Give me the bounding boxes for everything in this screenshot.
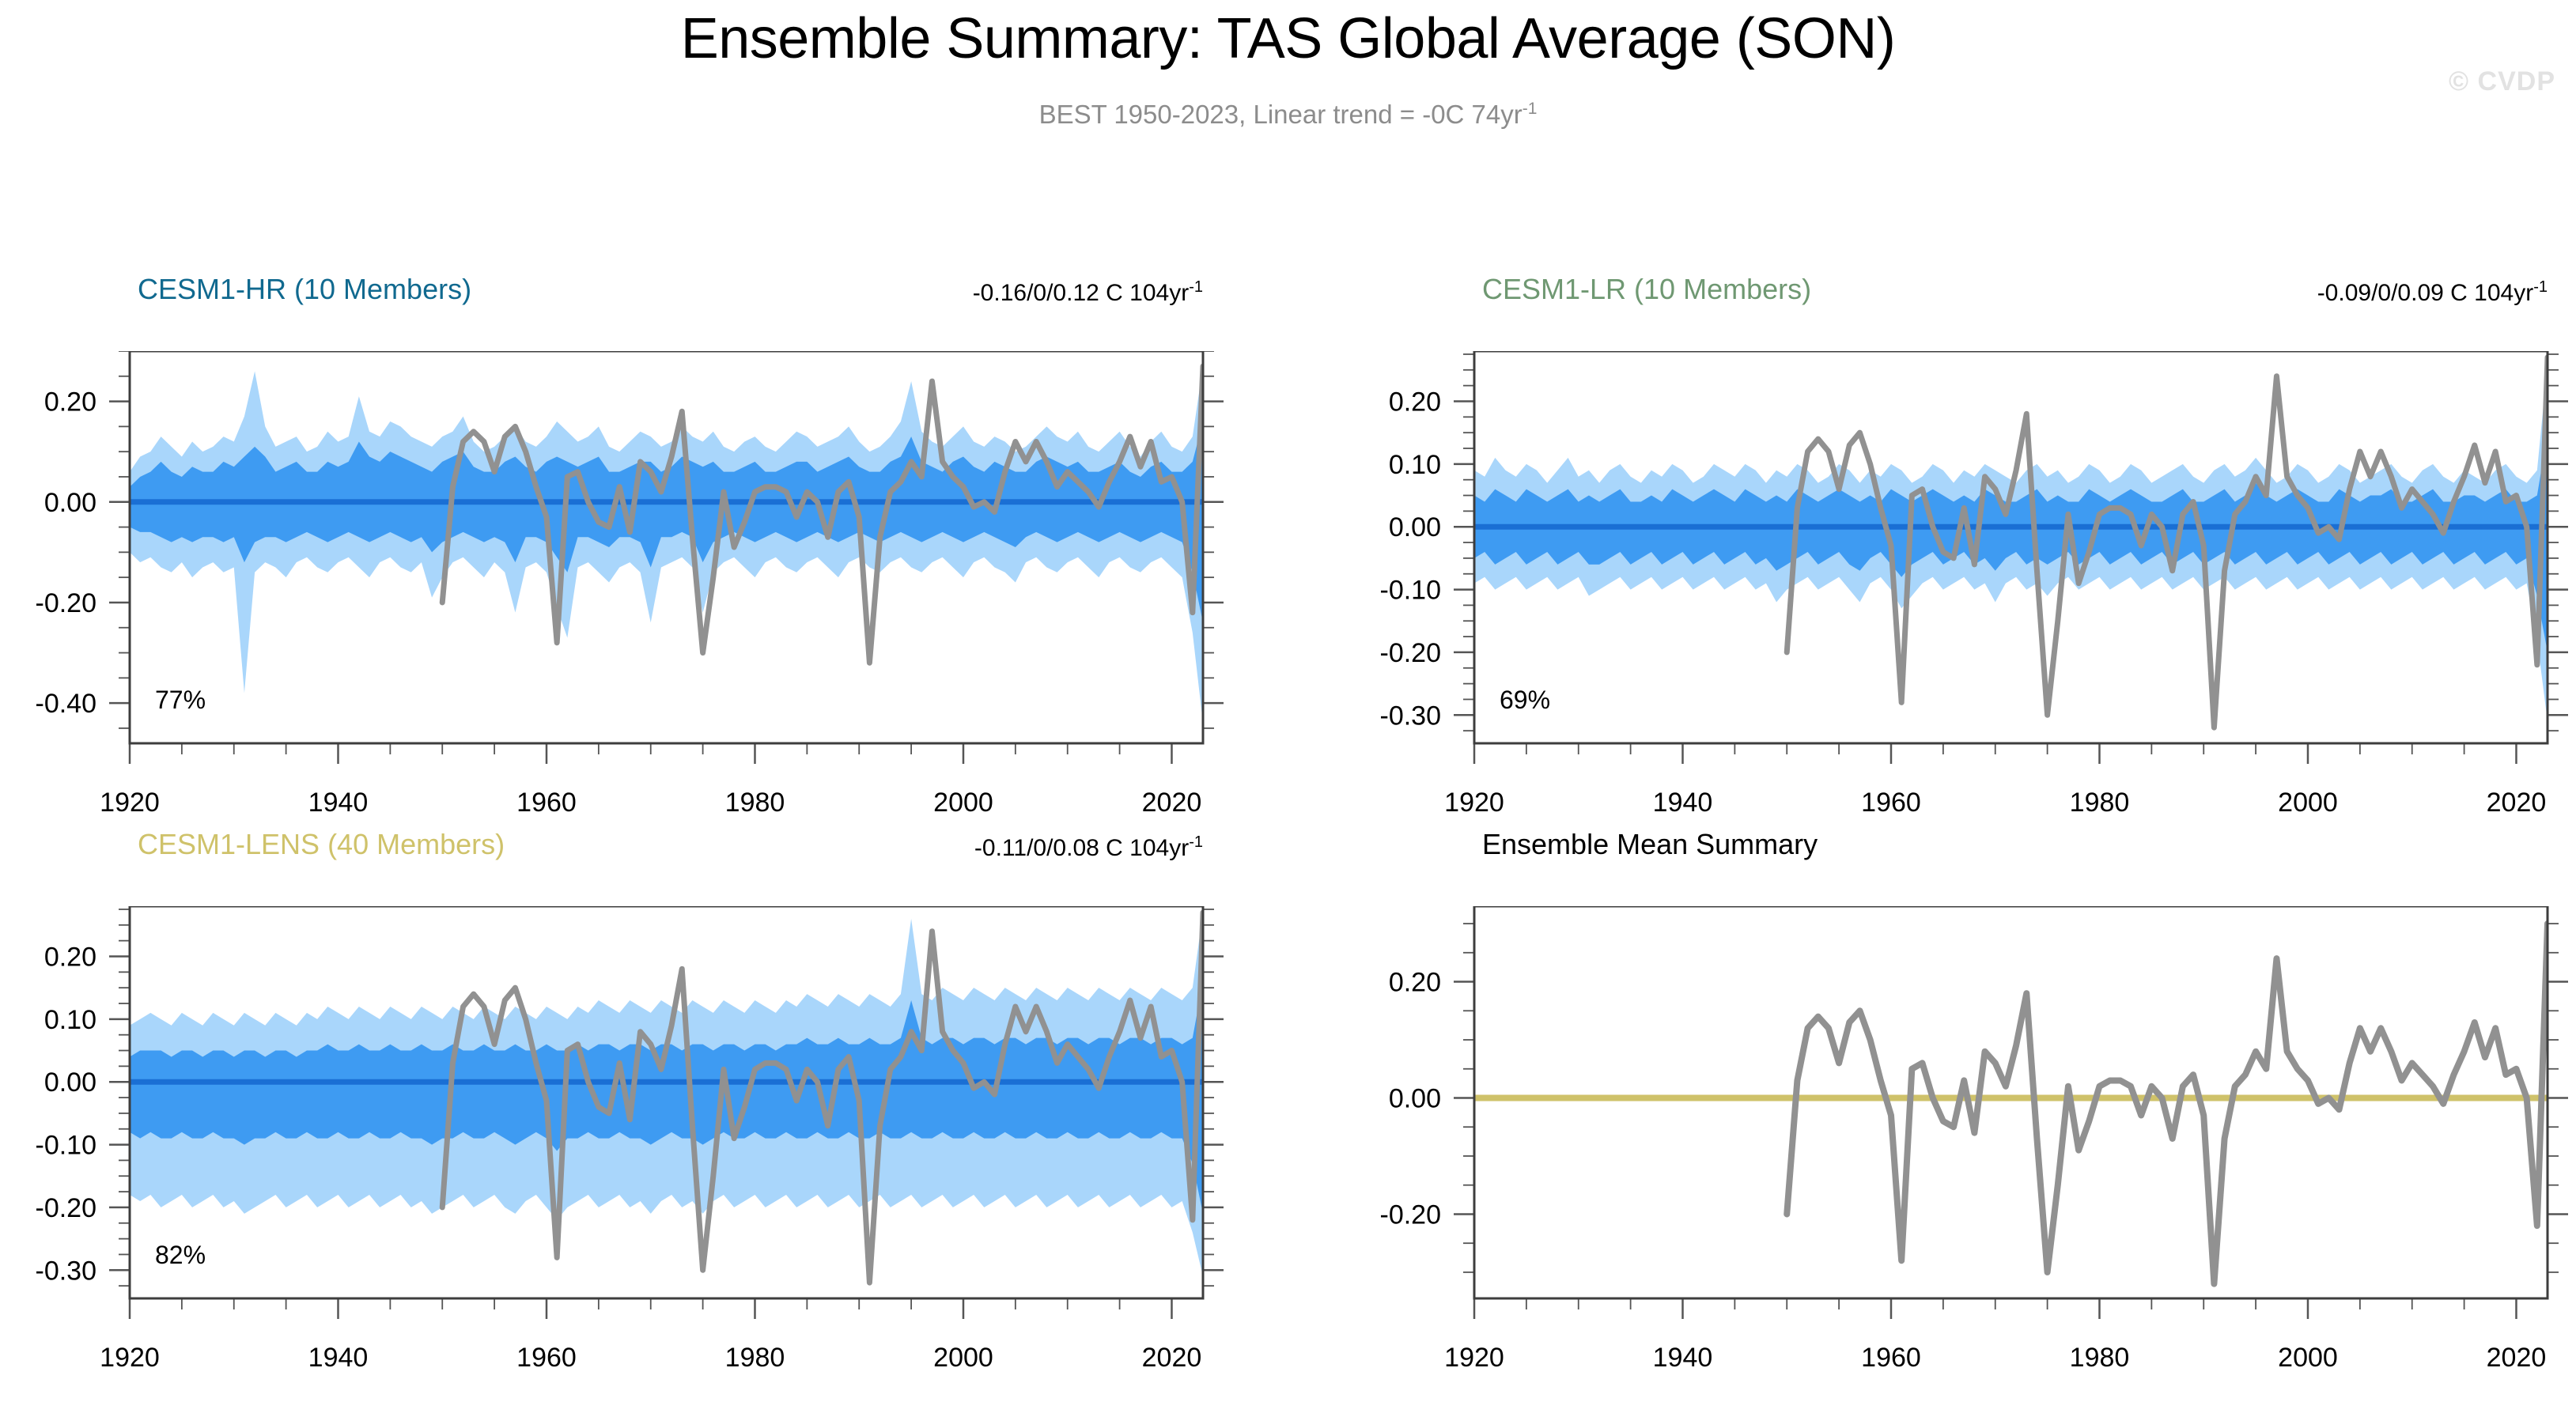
y-tick-label: 0.00: [44, 488, 96, 518]
x-tick-label: 1980: [725, 788, 785, 818]
cvdp-watermark: © CVDP: [2449, 66, 2555, 97]
x-tick-label: 2020: [1142, 1343, 1202, 1373]
y-tick-label: 0.20: [1389, 968, 1441, 998]
x-tick-label: 2000: [933, 788, 993, 818]
percent-label-cesm1-hr: 77%: [155, 686, 206, 714]
panel-trend-value: -0.11/0/0.08 C 104yr: [974, 835, 1189, 861]
percent-label-cesm1-lr: 69%: [1500, 686, 1550, 714]
chart-svg-cesm1-hr: 77%1920194019601980200020200.200.00-0.20…: [27, 351, 1298, 862]
y-tick-label: -0.30: [36, 1256, 97, 1286]
panel-trend-exponent: -1: [2533, 278, 2548, 296]
x-tick-label: 1920: [1444, 788, 1504, 818]
percent-label-cesm1-lens: 82%: [155, 1241, 206, 1269]
y-tick-label: -0.10: [1380, 576, 1442, 606]
page-title: Ensemble Summary: TAS Global Average (SO…: [0, 6, 2576, 71]
y-tick-label: -0.40: [36, 689, 97, 719]
y-tick-label: 0.10: [1389, 450, 1441, 480]
page-subtitle-exponent: -1: [1523, 100, 1538, 118]
x-tick-label: 1920: [1444, 1343, 1504, 1373]
chart-data-layer: [130, 366, 1203, 723]
x-tick-label: 2020: [2487, 788, 2547, 818]
panel-title-ensemble-mean-summary: Ensemble Mean Summary: [1482, 828, 1818, 861]
y-tick-label: -0.20: [1380, 638, 1442, 668]
x-tick-label: 1980: [2070, 788, 2130, 818]
chart-data-layer: [130, 913, 1203, 1283]
y-tick-label: -0.20: [1380, 1200, 1442, 1230]
chart-svg-cesm1-lr: 69%1920194019601980200020200.200.100.00-…: [1371, 351, 2576, 862]
x-tick-label: 1980: [2070, 1343, 2130, 1373]
chart-panel-cesm1-lr: CESM1-LR (10 Members)-0.09/0/0.09 C 104y…: [1371, 351, 2576, 862]
plot-frame: [1474, 906, 2548, 1298]
y-tick-label: -0.20: [36, 1193, 97, 1223]
chart-svg-cesm1-lens: 82%1920194019601980200020200.200.100.00-…: [27, 906, 1298, 1417]
page-subtitle: BEST 1950-2023, Linear trend = -0C 74yr-…: [0, 100, 2576, 130]
panel-trend-value: -0.09/0/0.09 C 104yr: [2317, 280, 2534, 306]
chart-axes: 1920194019601980200020200.200.00-0.20: [1380, 906, 2569, 1373]
y-tick-label: 0.00: [1389, 1083, 1441, 1113]
x-tick-label: 1960: [1861, 788, 1921, 818]
x-tick-label: 1940: [308, 1343, 369, 1373]
panel-trend-cesm1-hr: -0.16/0/0.12 C 104yr-1: [27, 278, 1203, 307]
y-tick-label: 0.20: [44, 387, 96, 418]
x-tick-label: 1960: [1861, 1343, 1921, 1373]
y-tick-label: 0.00: [44, 1067, 96, 1098]
chart-svg-ensemble-mean-summary: 1920194019601980200020200.200.00-0.20: [1371, 906, 2576, 1417]
y-tick-label: 0.10: [44, 1005, 96, 1035]
panel-trend-cesm1-lens: -0.11/0/0.08 C 104yr-1: [27, 833, 1203, 862]
x-tick-label: 1940: [308, 788, 369, 818]
x-tick-label: 1960: [516, 788, 577, 818]
y-tick-label: 0.00: [1389, 512, 1441, 542]
chart-panel-cesm1-hr: CESM1-HR (10 Members)-0.16/0/0.12 C 104y…: [27, 351, 1298, 862]
y-tick-label: -0.30: [1380, 701, 1442, 731]
chart-axes: 1920194019601980200020200.200.00-0.20-0.…: [36, 351, 1224, 818]
y-tick-label: 0.20: [1389, 387, 1441, 417]
x-tick-label: 1920: [100, 1343, 160, 1373]
x-tick-label: 2000: [933, 1343, 993, 1373]
x-tick-label: 1980: [725, 1343, 785, 1373]
x-tick-label: 2000: [2278, 788, 2338, 818]
x-tick-label: 1940: [1653, 788, 1713, 818]
series-ensemble-outer-range: [130, 366, 1203, 723]
x-tick-label: 1920: [100, 788, 160, 818]
y-tick-label: 0.20: [44, 942, 96, 972]
chart-panel-ensemble-mean-summary: Ensemble Mean Summary1920194019601980200…: [1371, 906, 2576, 1417]
chart-panel-cesm1-lens: CESM1-LENS (40 Members)-0.11/0/0.08 C 10…: [27, 906, 1298, 1417]
x-tick-label: 2020: [2487, 1343, 2547, 1373]
chart-data-layer: [1474, 924, 2548, 1284]
x-tick-label: 1940: [1653, 1343, 1713, 1373]
x-tick-label: 1960: [516, 1343, 577, 1373]
panel-trend-exponent: -1: [1189, 833, 1203, 851]
page-subtitle-main: BEST 1950-2023, Linear trend = -0C 74yr: [1039, 100, 1523, 129]
chart-data-layer: [1474, 357, 2548, 727]
series-observations-best: [1787, 924, 2548, 1284]
x-tick-label: 2020: [1142, 788, 1202, 818]
panel-trend-value: -0.16/0/0.12 C 104yr: [973, 280, 1190, 306]
y-tick-label: -0.10: [36, 1131, 97, 1161]
panel-trend-cesm1-lr: -0.09/0/0.09 C 104yr-1: [1371, 278, 2548, 307]
x-tick-label: 2000: [2278, 1343, 2338, 1373]
panel-trend-exponent: -1: [1189, 278, 1203, 296]
y-tick-label: -0.20: [36, 588, 97, 618]
